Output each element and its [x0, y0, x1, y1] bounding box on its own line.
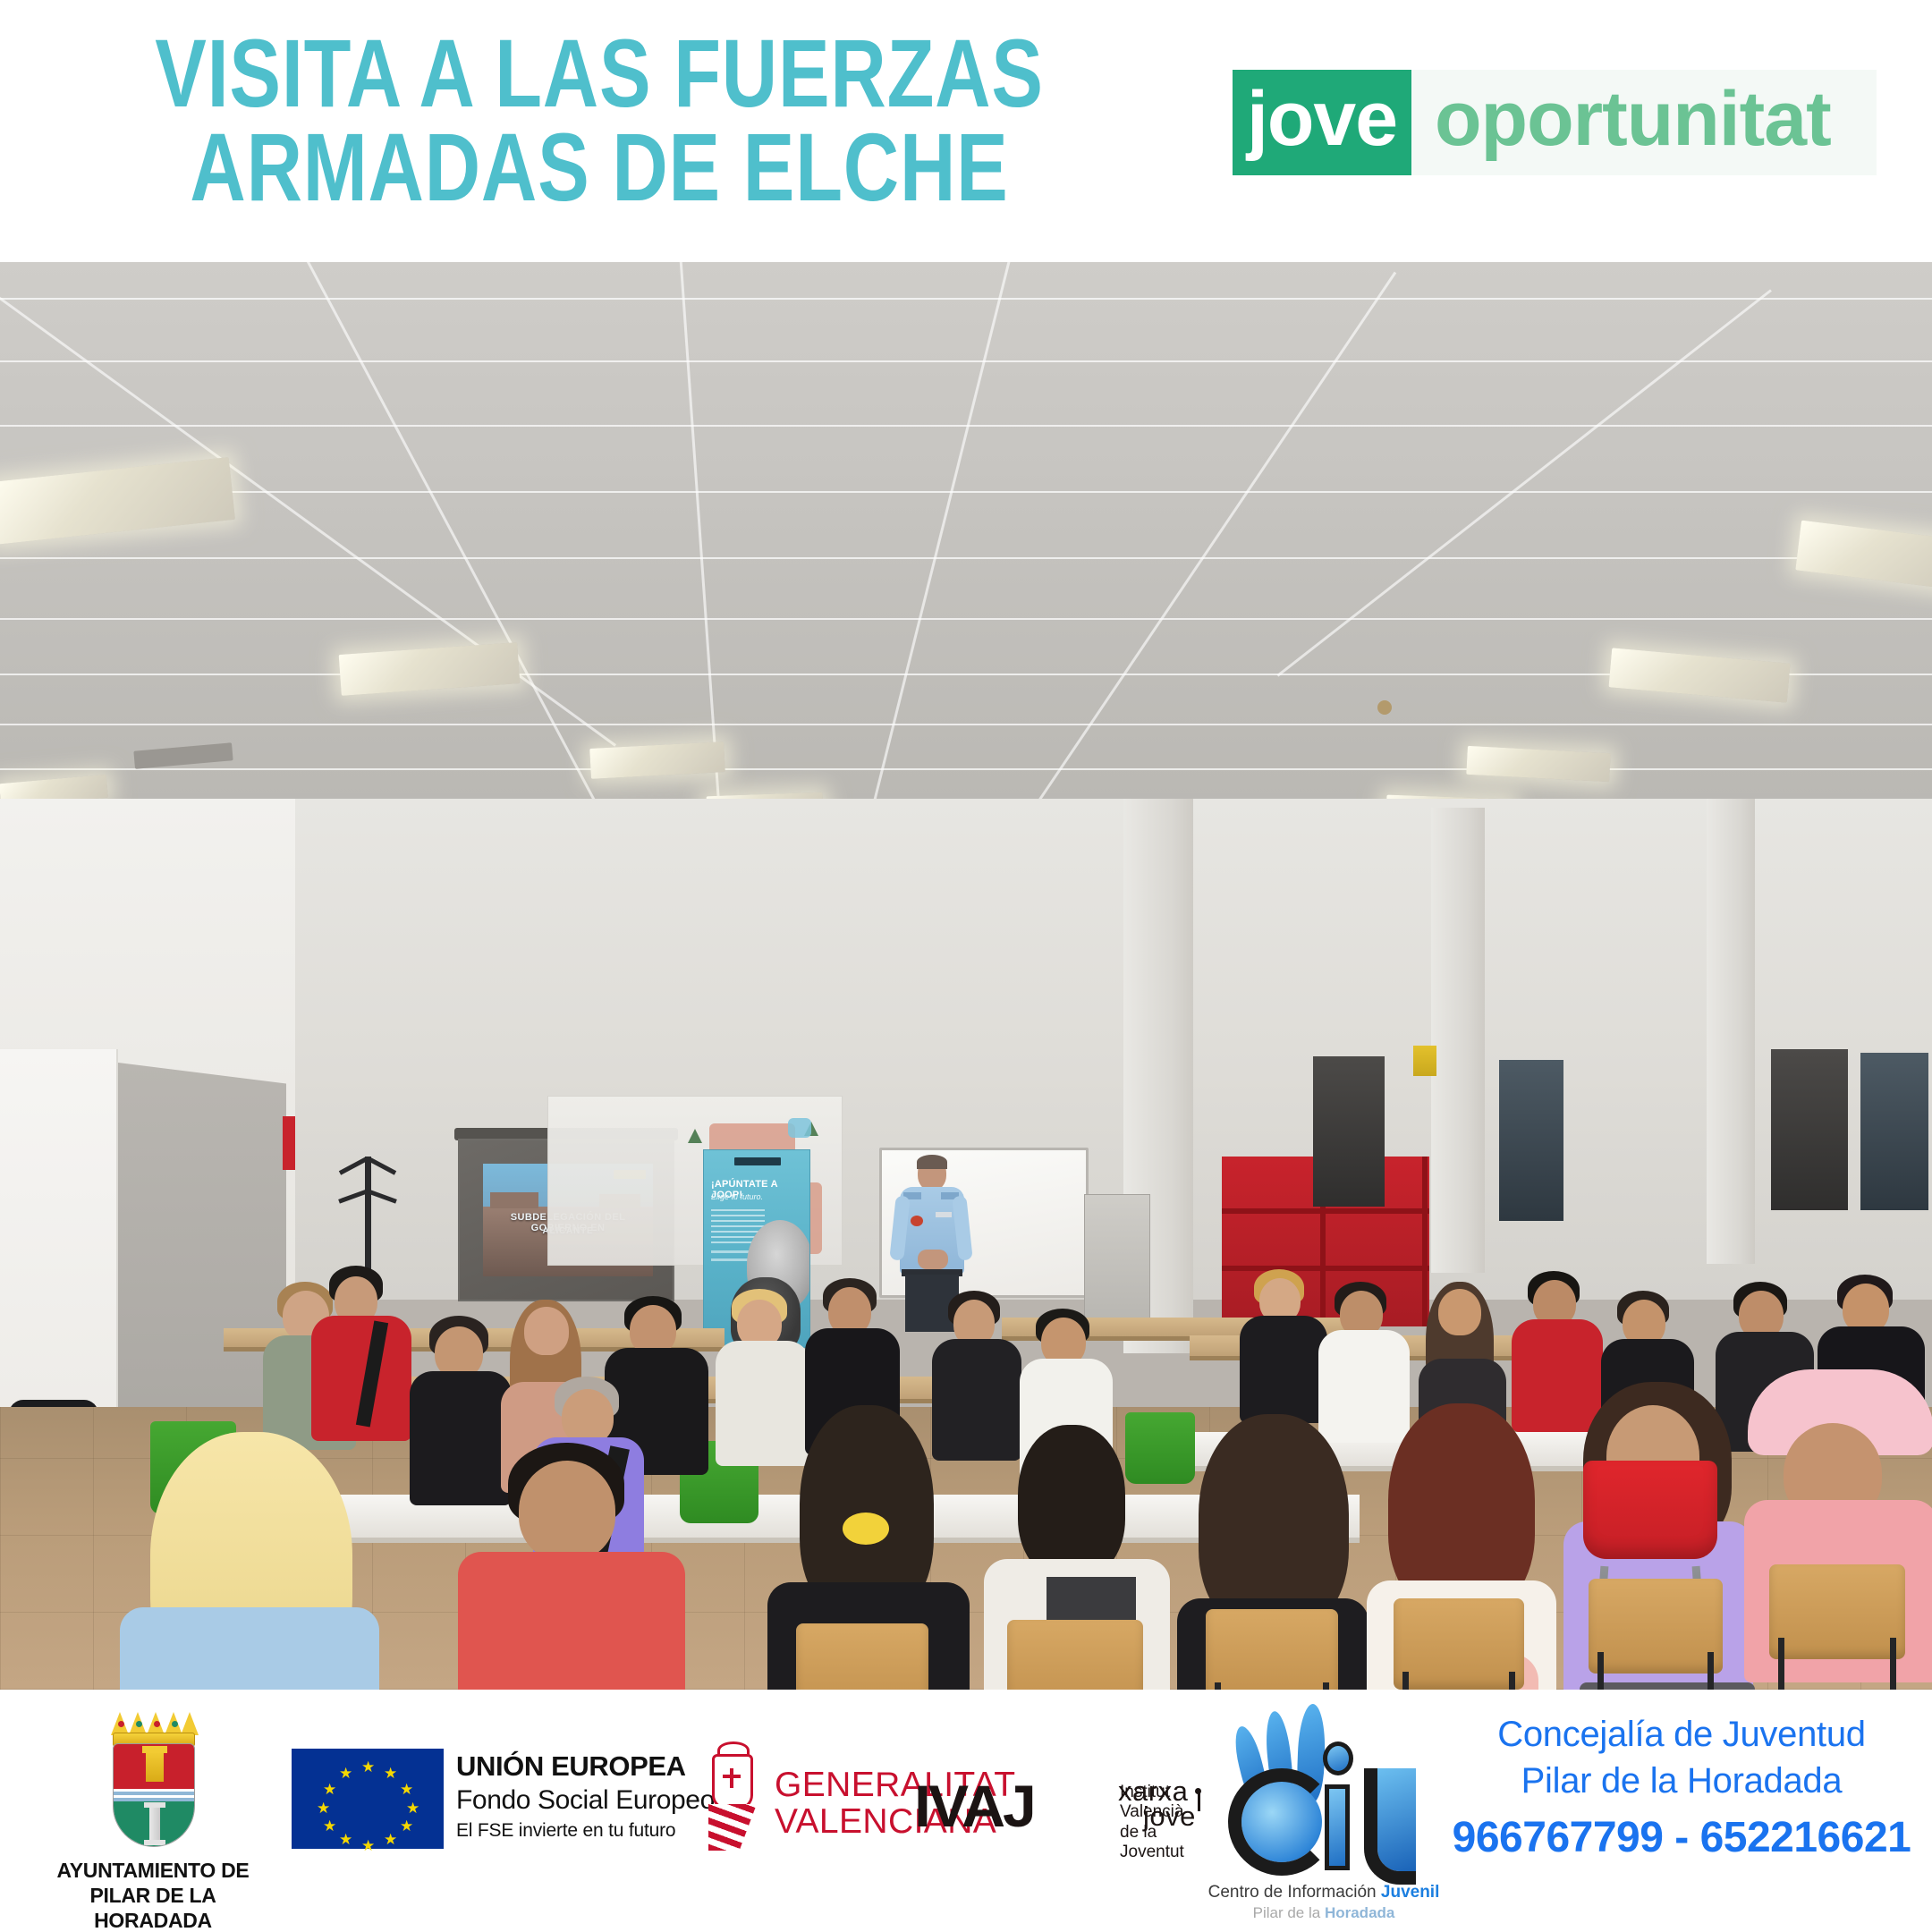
poster-header: VISITA A LAS FUERZAS ARMADAS DE ELCHE jo… [0, 0, 1932, 262]
column-icon [149, 1807, 160, 1841]
ayuntamiento-line-2: PILAR DE LA HORADADA [55, 1883, 250, 1932]
xarxa-line-2: jove [1143, 1801, 1196, 1833]
joop-banner-logo [734, 1157, 781, 1165]
wall-poster-dark-2 [1499, 1060, 1563, 1221]
cij-sub-plain: Pilar de la [1253, 1904, 1325, 1921]
chair-wood-1 [796, 1623, 928, 1690]
ivaj-logo: IVAJ Institut Valencià de la Joventut [914, 1772, 1030, 1840]
title-line-1: VISITA A LAS FUERZAS [120, 27, 1079, 121]
crown-icon [109, 1709, 199, 1747]
cij-sub-bold: Horadada [1325, 1904, 1394, 1921]
ayuntamiento-crest: AYUNTAMIENTO DE PILAR DE LA HORADADA [97, 1709, 209, 1852]
contact-block: Concejalía de Juventud Pilar de la Horad… [1449, 1711, 1914, 1862]
xarxa-connector-icon [1198, 1792, 1200, 1811]
jove-logo-word: jove [1247, 80, 1397, 157]
title-line-2: ARMADAS DE ELCHE [120, 121, 1079, 215]
ceiling [0, 262, 1932, 835]
emergency-sign [1413, 1046, 1436, 1076]
letter-i-dot-icon [1323, 1741, 1353, 1775]
chair-wood-6 [1769, 1564, 1905, 1659]
eu-flag-icon: ★ ★ ★ ★ ★ ★ ★ ★ ★ ★ ★ ★ [292, 1749, 444, 1849]
cij-caption: Centro de Información Juvenil [1205, 1883, 1443, 1902]
contact-line-1: Concejalía de Juventud [1449, 1711, 1914, 1758]
joop-banner-tagline: Elige tu futuro. [711, 1192, 763, 1201]
generalitat-shield-icon [707, 1754, 758, 1847]
page-title: VISITA A LAS FUERZAS ARMADAS DE ELCHE [0, 27, 1199, 215]
generalitat-logo: GENERALITAT VALENCIANA [707, 1749, 930, 1854]
chair-wood-4 [1394, 1598, 1524, 1690]
chair-wood-5 [1589, 1579, 1723, 1674]
chair-wood-2 [1007, 1620, 1143, 1690]
ivaj-acronym: IVAJ [914, 1772, 1034, 1840]
cij-logo: Centro de Información Juvenil Pilar de l… [1212, 1699, 1436, 1922]
wall-poster-dark-1 [1313, 1056, 1385, 1207]
eu-line-2: Fondo Social Europeo [456, 1785, 715, 1816]
cij-caption-plain: Centro de Información [1208, 1883, 1381, 1902]
shield-icon [113, 1743, 195, 1847]
ayuntamiento-line-1: AYUNTAMIENTO DE [55, 1858, 250, 1883]
poster-footer: AYUNTAMIENTO DE PILAR DE LA HORADADA ★ ★… [0, 1690, 1932, 1932]
eu-line-1: UNIÓN EUROPEA [456, 1750, 715, 1783]
oportunitat-logo-word: oportunitat [1411, 66, 1877, 172]
jove-oportunitat-logo: jove oportunitat [1233, 70, 1877, 175]
event-photo: SUBDELEGACIÓN DEL GOBIERNO EN ALICANTE ¡… [0, 262, 1932, 1690]
letter-j-icon [1364, 1768, 1416, 1885]
fire-extinguisher-sign [283, 1116, 295, 1170]
cij-subcaption: Pilar de la Horadada [1205, 1904, 1443, 1922]
xarxa-jove-logo: xarxa jove [1118, 1775, 1225, 1847]
metal-cabinet [1084, 1194, 1150, 1330]
poster-root: VISITA A LAS FUERZAS ARMADAS DE ELCHE jo… [0, 0, 1932, 1932]
jove-logo-box: jove [1233, 70, 1411, 175]
wall-poster-dark-3 [1771, 1049, 1848, 1210]
pillar-right [1431, 808, 1485, 1273]
ayuntamiento-caption: AYUNTAMIENTO DE PILAR DE LA HORADADA [55, 1858, 250, 1932]
chair-green-right [1125, 1412, 1195, 1484]
chair-wood-3 [1206, 1609, 1338, 1690]
chair-red-back-right [1583, 1461, 1717, 1559]
eu-line-3: El FSE invierte en tu futuro [456, 1820, 715, 1842]
eu-caption: UNIÓN EUROPEA Fondo Social Europeo El FS… [456, 1750, 715, 1842]
letter-c-icon [1228, 1768, 1335, 1876]
contact-line-2: Pilar de la Horadada [1449, 1758, 1914, 1804]
cij-caption-bold: Juvenil [1381, 1883, 1439, 1902]
wall-poster-dark-4 [1860, 1053, 1928, 1210]
contact-phones[interactable]: 966767799 - 652216621 [1449, 1813, 1914, 1862]
pillar-far-right [1707, 799, 1755, 1264]
letter-i-icon [1325, 1784, 1350, 1870]
tower-icon [146, 1751, 164, 1782]
